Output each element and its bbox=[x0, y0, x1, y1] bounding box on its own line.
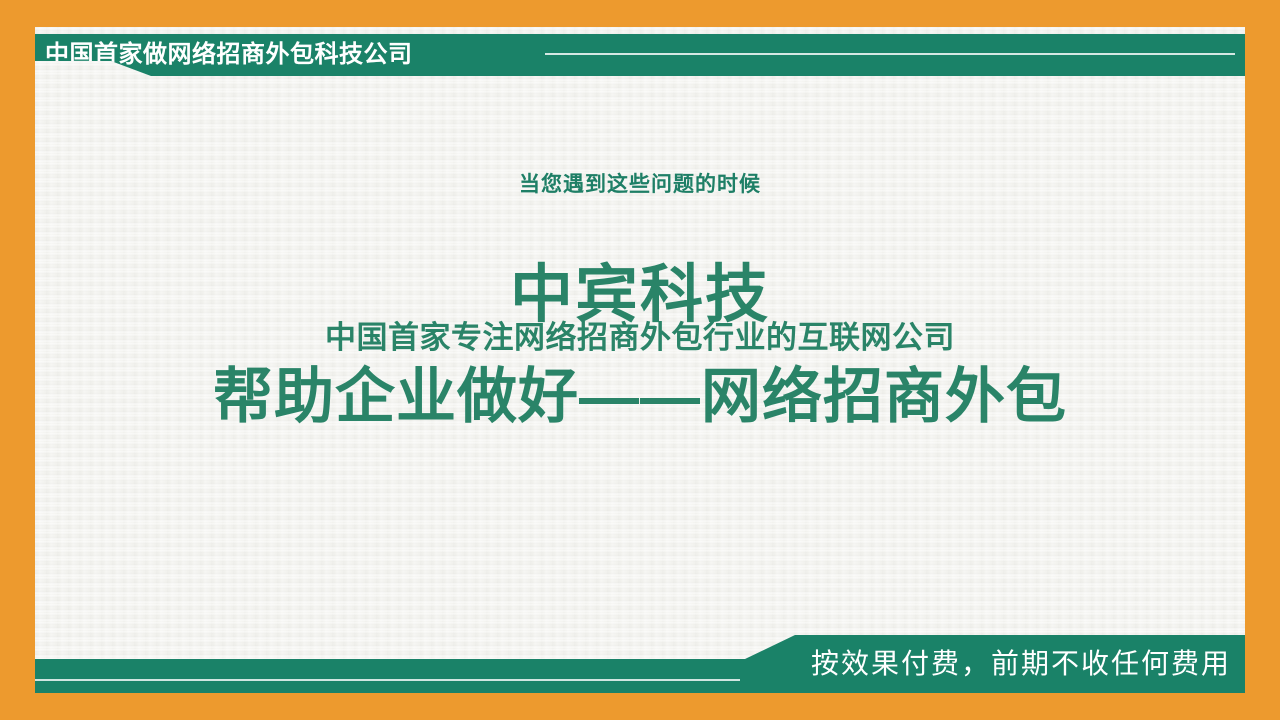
presentation-slide: 中国首家做网络招商外包科技公司 当您遇到这些问题的时候 中宾科技 中国首家专注网… bbox=[0, 0, 1280, 720]
eyebrow-text: 当您遇到这些问题的时候 bbox=[35, 168, 1245, 198]
slide-canvas: 中国首家做网络招商外包科技公司 当您遇到这些问题的时候 中宾科技 中国首家专注网… bbox=[35, 27, 1245, 693]
header-banner-title: 中国首家做网络招商外包科技公司 bbox=[45, 41, 505, 69]
footer-banner-label: 按效果付费，前期不收任何费用 bbox=[811, 644, 1231, 684]
header-banner-divider-line bbox=[545, 53, 1235, 55]
footer-banner-divider-line bbox=[35, 679, 740, 681]
brand-tagline-subtitle: 中国首家专注网络招商外包行业的互联网公司 bbox=[35, 318, 1245, 358]
footer-banner: 按效果付费，前期不收任何费用 bbox=[35, 635, 1245, 693]
header-banner: 中国首家做网络招商外包科技公司 bbox=[35, 34, 1245, 76]
primary-headline: 帮助企业做好——网络招商外包 bbox=[35, 359, 1245, 435]
